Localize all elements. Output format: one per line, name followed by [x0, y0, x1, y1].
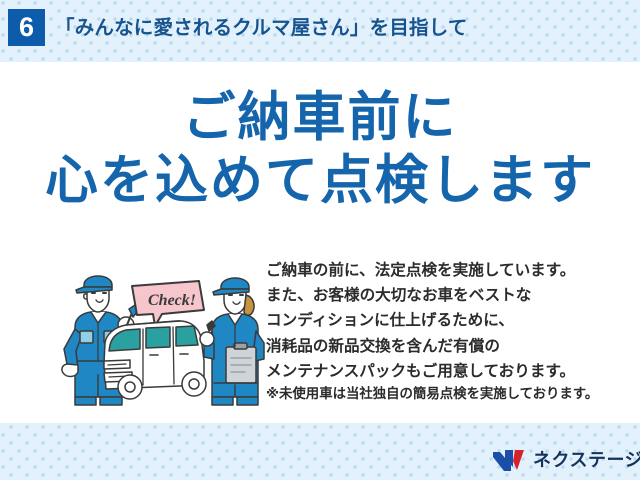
right-mechanic: [200, 278, 264, 405]
header-title: 「みんなに愛されるクルマ屋さん」を目指して: [55, 13, 468, 43]
headline: ご納車前に 心を込めて点検します: [0, 86, 640, 212]
nextage-n-mark-icon: [492, 449, 526, 472]
body-note: ※未使用車は当社独自の簡易点検を実施しております。: [266, 385, 631, 403]
section-number-badge: 6: [8, 9, 45, 46]
promo-banner: 6 「みんなに愛されるクルマ屋さん」を目指して ご納車前に 心を込めて点検します: [0, 0, 640, 480]
brand-logo: ネクステージ: [492, 446, 640, 474]
mechanics-illustration: Check!: [58, 265, 268, 410]
body-line-3: コンディションに仕上げるために、: [266, 308, 626, 333]
check-bubble-label: Check!: [148, 292, 196, 309]
mechanics-illustration-svg: Check!: [58, 265, 268, 410]
headline-line-1: ご納車前に: [0, 86, 640, 149]
body-line-4: 消耗品の新品交換を含んだ有償の: [266, 334, 626, 359]
brand-name: ネクステージ: [533, 449, 640, 472]
body-line-5: メンテナンスパックもご用意しております。: [266, 359, 626, 384]
body-line-1: ご納車の前に、法定点検を実施しています。: [266, 258, 626, 283]
check-speech-bubble: Check!: [132, 281, 204, 326]
body-line-2: また、お客様の大切なお車をベストな: [266, 283, 626, 308]
body-copy: ご納車の前に、法定点検を実施しています。 また、お客様の大切なお車をベストな コ…: [266, 258, 626, 384]
headline-line-2: 心を込めて点検します: [0, 149, 640, 212]
banner-header: 6 「みんなに愛されるクルマ屋さん」を目指して: [0, 0, 640, 62]
content-panel: ご納車前に 心を込めて点検します: [0, 62, 640, 423]
van: [104, 321, 206, 399]
